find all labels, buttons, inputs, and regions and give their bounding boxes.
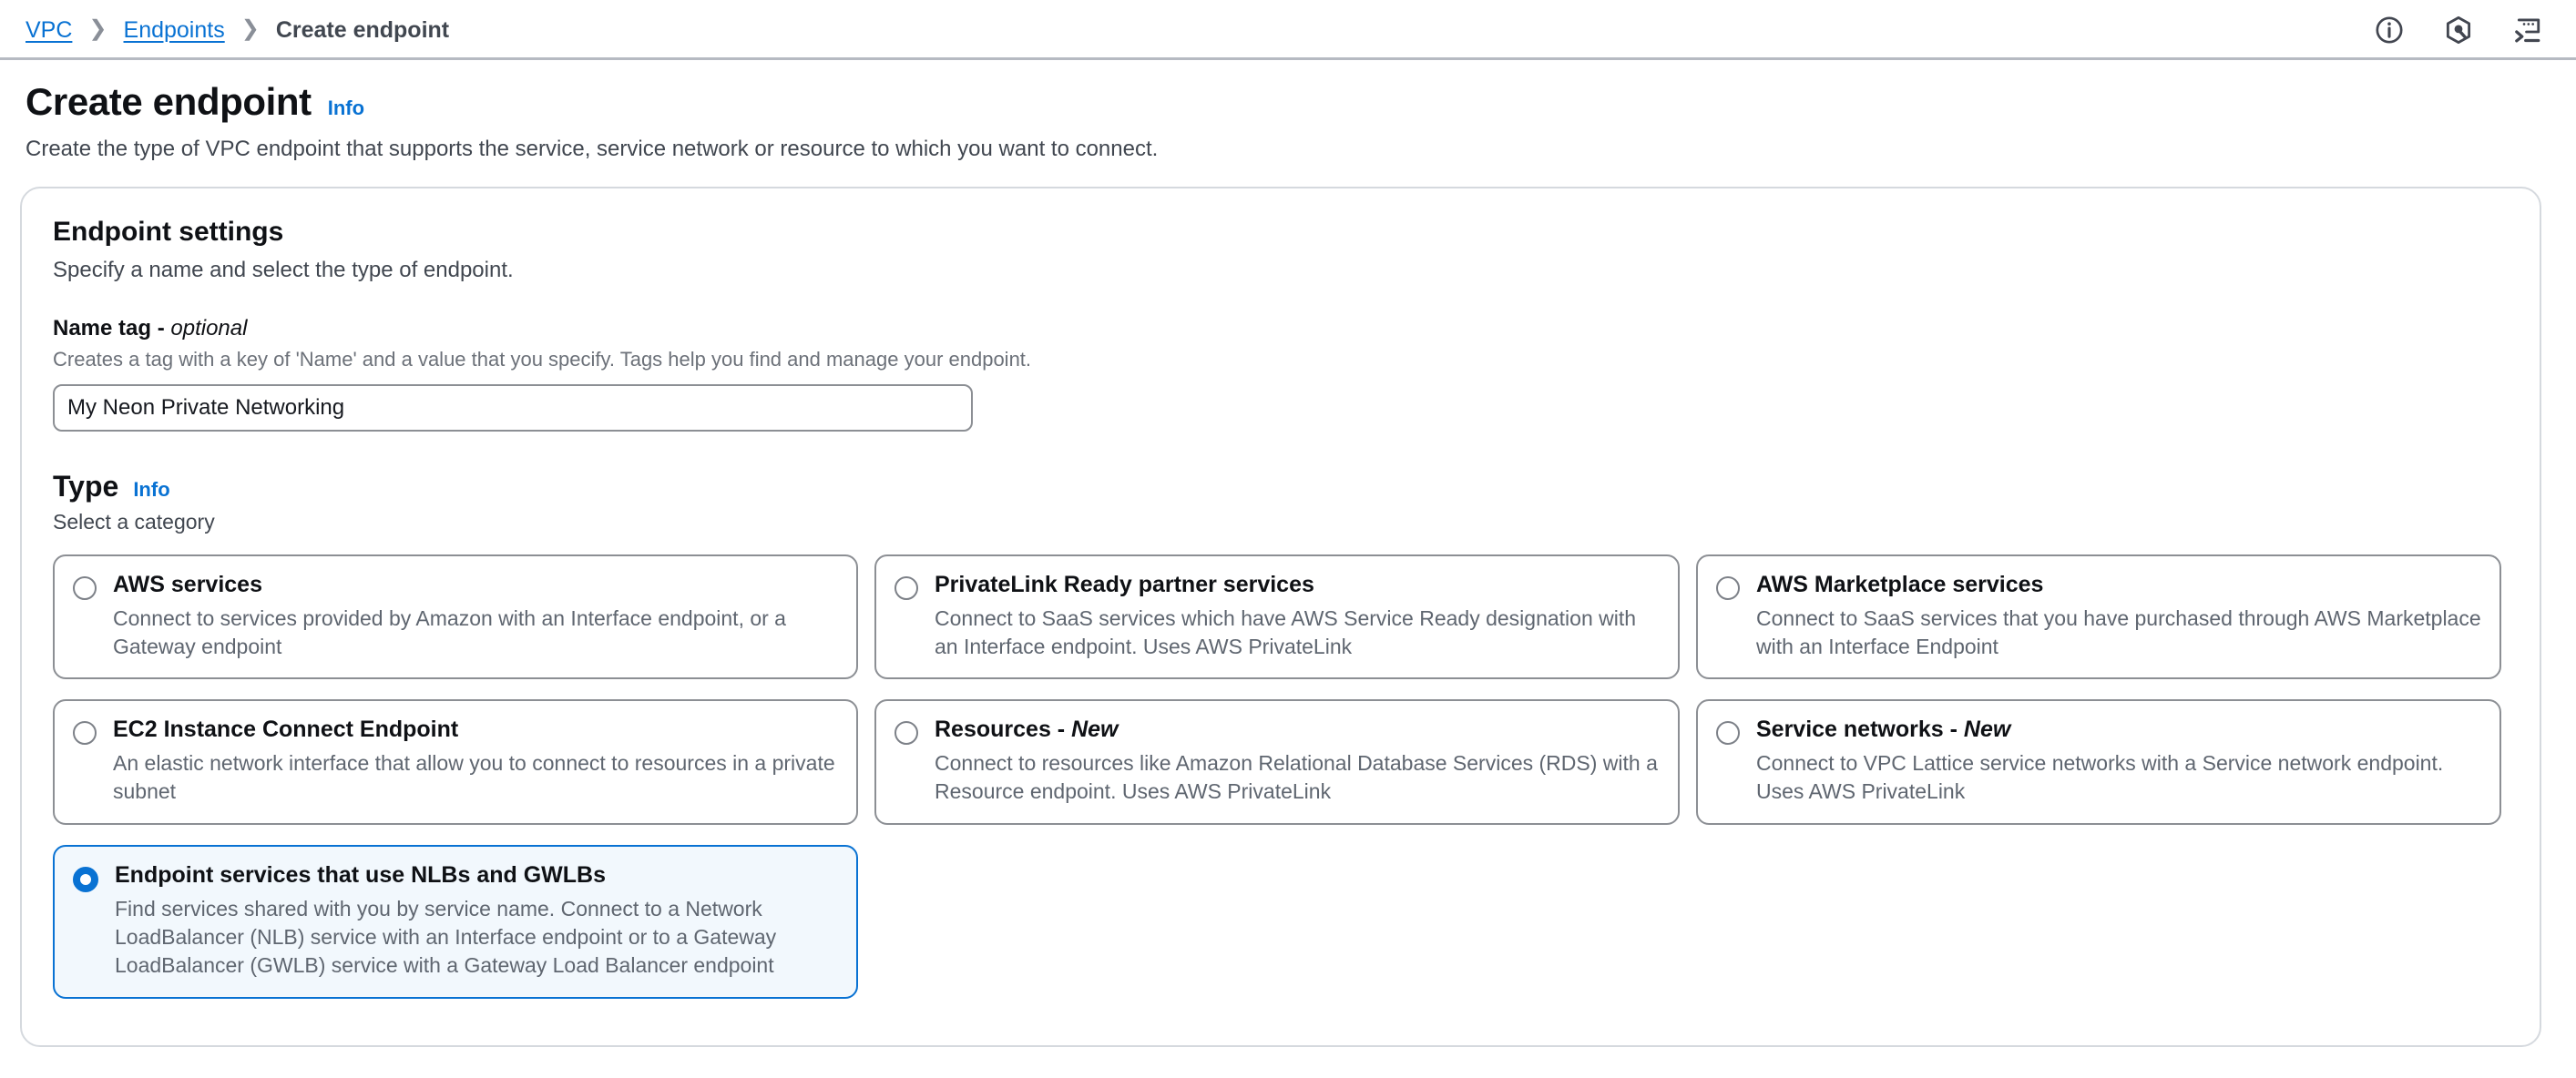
type-option-aws-marketplace-services[interactable]: AWS Marketplace services Connect to SaaS… [1696,554,2501,680]
type-option-body: Resources - New Connect to resources lik… [935,716,1660,807]
type-option-body: Service networks - New Connect to VPC La… [1756,716,2481,807]
breadcrumb: VPC ❯ Endpoints ❯ Create endpoint [26,17,449,44]
type-option-title-text: Resources - [935,717,1071,742]
type-option-title: Service networks - New [1756,716,2481,743]
type-option-title: Resources - New [935,716,1660,743]
page-info-link[interactable]: Info [328,97,364,120]
type-option-ec2-instance-connect-endpoint[interactable]: EC2 Instance Connect Endpoint An elastic… [53,699,858,825]
amazon-q-icon[interactable] [2443,15,2474,46]
type-info-link[interactable]: Info [133,478,169,502]
type-field-group: Type Info Select a category AWS services… [53,470,2509,999]
type-option-body: EC2 Instance Connect Endpoint An elastic… [113,716,838,807]
page-description: Create the type of VPC endpoint that sup… [26,135,2550,164]
radio-icon[interactable] [894,576,918,600]
type-option-title: AWS services [113,571,838,598]
type-option-title: EC2 Instance Connect Endpoint [113,716,838,743]
top-bar: VPC ❯ Endpoints ❯ Create endpoint [0,0,2576,60]
radio-icon[interactable] [1716,721,1740,745]
info-circle-icon[interactable] [2374,15,2405,46]
name-tag-field-group: Name tag - optional Creates a tag with a… [53,316,2509,432]
endpoint-settings-panel: Endpoint settings Specify a name and sel… [20,187,2541,1047]
cloudshell-terminal-icon[interactable] [2512,15,2543,46]
radio-icon[interactable] [73,721,97,745]
breadcrumb-item-create-endpoint: Create endpoint [276,17,449,44]
name-tag-optional-text: optional [170,316,247,341]
top-bar-actions [2374,15,2543,46]
type-title-row: Type Info [53,470,2509,503]
type-option-description: An elastic network interface that allow … [113,749,838,807]
name-tag-input[interactable] [53,384,973,432]
page-header: Create endpoint Info Create the type of … [0,60,2576,165]
new-badge: New [1071,717,1118,742]
name-tag-label: Name tag - optional [53,316,2509,341]
page-title-row: Create endpoint Info [26,80,2550,124]
type-option-title: PrivateLink Ready partner services [935,571,1660,598]
name-tag-label-text: Name tag - [53,316,170,341]
type-option-privatelink-ready-partner-services[interactable]: PrivateLink Ready partner services Conne… [874,554,1680,680]
type-option-title: AWS Marketplace services [1756,571,2481,598]
breadcrumb-item-vpc[interactable]: VPC [26,17,72,44]
type-option-body: AWS Marketplace services Connect to SaaS… [1756,571,2481,662]
type-option-resources[interactable]: Resources - New Connect to resources lik… [874,699,1680,825]
name-tag-hint: Creates a tag with a key of 'Name' and a… [53,348,2509,371]
section-description: Specify a name and select the type of en… [53,258,2509,283]
type-option-title: Endpoint services that use NLBs and GWLB… [115,861,838,889]
type-option-description: Connect to services provided by Amazon w… [113,605,838,662]
breadcrumb-separator-icon: ❯ [88,18,107,40]
radio-icon[interactable] [73,576,97,600]
type-option-endpoint-services-nlb-gwlb[interactable]: Endpoint services that use NLBs and GWLB… [53,845,858,999]
section-title: Endpoint settings [53,216,2509,249]
type-radio-group: AWS services Connect to services provide… [53,554,2509,999]
new-badge: New [1964,717,2010,742]
breadcrumb-item-endpoints[interactable]: Endpoints [124,17,225,44]
type-option-body: AWS services Connect to services provide… [113,571,838,662]
type-option-body: PrivateLink Ready partner services Conne… [935,571,1660,662]
breadcrumb-separator-icon: ❯ [241,18,260,40]
type-option-description: Connect to SaaS services that you have p… [1756,605,2481,662]
type-option-service-networks[interactable]: Service networks - New Connect to VPC La… [1696,699,2501,825]
type-description: Select a category [53,510,2509,534]
type-title: Type [53,470,118,503]
radio-icon-selected[interactable] [73,867,98,892]
type-option-title-text: Service networks - [1756,717,1964,742]
radio-icon[interactable] [894,721,918,745]
type-option-body: Endpoint services that use NLBs and GWLB… [115,861,838,981]
page-title: Create endpoint [26,80,312,124]
type-option-description: Connect to SaaS services which have AWS … [935,605,1660,662]
type-option-description: Find services shared with you by service… [115,895,838,981]
type-option-aws-services[interactable]: AWS services Connect to services provide… [53,554,858,680]
radio-icon[interactable] [1716,576,1740,600]
type-option-description: Connect to VPC Lattice service networks … [1756,749,2481,807]
type-option-description: Connect to resources like Amazon Relatio… [935,749,1660,807]
